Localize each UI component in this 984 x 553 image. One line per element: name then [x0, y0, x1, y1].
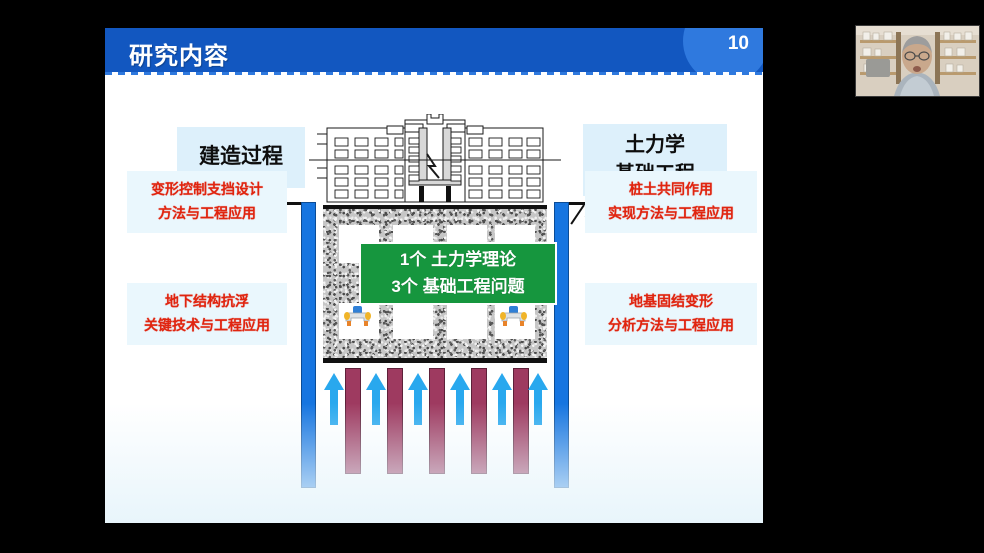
- page-title: 研究内容: [129, 36, 229, 71]
- header-circle-decoration: [683, 28, 763, 72]
- pile-soil-line-2: 实现方法与工程应用: [608, 202, 734, 226]
- green-line-2: 3个 基础工程问题: [391, 274, 524, 300]
- anti-floating-line-2: 关键技术与工程应用: [144, 314, 270, 338]
- screen: 研究内容 10: [0, 0, 984, 553]
- excavator-icon: [499, 305, 529, 327]
- slide-page-number: 10: [728, 33, 749, 55]
- building-svg: [309, 114, 561, 204]
- presenter-video-thumbnail[interactable]: [855, 25, 980, 97]
- construction-process-line-1: 建造过程: [199, 142, 283, 172]
- topic-box-consolidation: 地基固结变形 分析方法与工程应用: [585, 283, 757, 345]
- header-dashed-divider: [105, 72, 763, 75]
- topic-box-retaining-design: 变形控制支挡设计 方法与工程应用: [127, 171, 287, 233]
- key-message-box: 1个 土力学理论 3个 基础工程问题: [359, 242, 557, 305]
- consolidation-line-2: 分析方法与工程应用: [608, 314, 734, 338]
- building-facade-illustration: [309, 114, 561, 204]
- soil-mechanics-line-1: 土力学: [625, 131, 685, 160]
- green-line-1: 1个 土力学理论: [400, 247, 516, 273]
- webcam-frame: [856, 26, 979, 96]
- retaining-design-line-1: 变形控制支挡设计: [151, 178, 263, 202]
- slide-bottom-gradient: [105, 403, 763, 523]
- soil-excavation-body: 1个 土力学理论 3个 基础工程问题: [323, 205, 547, 363]
- topic-box-anti-floating: 地下结构抗浮 关键技术与工程应用: [127, 283, 287, 345]
- consolidation-line-1: 地基固结变形: [629, 290, 713, 314]
- excavator-icon: [343, 305, 373, 327]
- pile-soil-line-1: 桩土共同作用: [629, 178, 713, 202]
- anti-floating-line-1: 地下结构抗浮: [165, 290, 249, 314]
- topic-box-pile-soil-interaction: 桩土共同作用 实现方法与工程应用: [585, 171, 757, 233]
- retaining-design-line-2: 方法与工程应用: [158, 202, 256, 226]
- slide-header: 研究内容 10: [105, 28, 763, 72]
- presentation-slide: 研究内容 10: [105, 28, 763, 523]
